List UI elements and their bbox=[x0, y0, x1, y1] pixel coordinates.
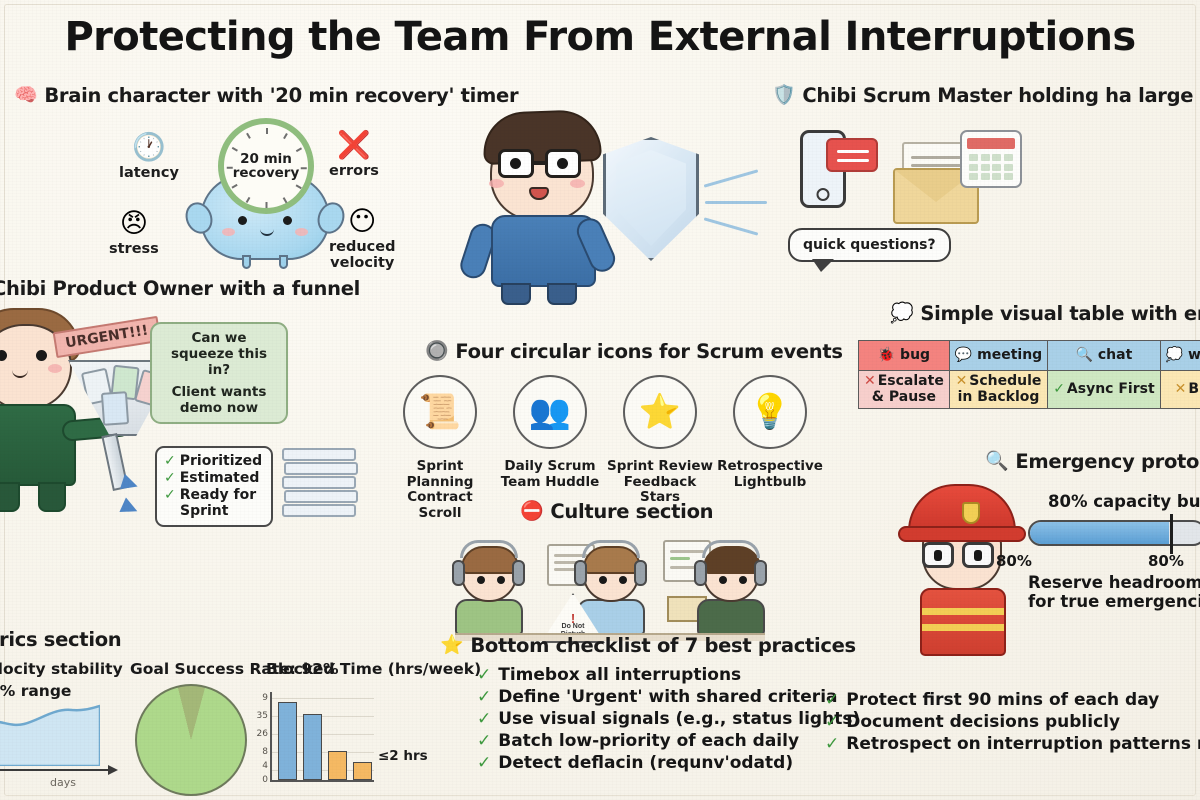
impact-line-2 bbox=[705, 201, 767, 204]
check-icon: ✓ bbox=[825, 733, 839, 755]
stress-label: stress bbox=[109, 241, 159, 257]
bar-left-value: 80% bbox=[996, 552, 1032, 570]
event-label-daily-scrum: Daily ScrumTeam Huddle bbox=[495, 459, 605, 490]
bar-w4 bbox=[353, 762, 372, 780]
people-icon: 👥 bbox=[529, 395, 571, 429]
table-cell-chat-action: ✓Async First bbox=[1048, 371, 1160, 409]
firefighter-eye-left bbox=[934, 550, 942, 561]
scrum-master-section-header: 🛡️ Chibi Scrum Master holding ha large s… bbox=[772, 84, 1200, 107]
goal-success-pie bbox=[135, 684, 247, 796]
checklist-item: ✓Detect deflacin (requnv'odatd) bbox=[477, 752, 860, 774]
member1-earcup-right bbox=[512, 560, 525, 586]
team-member-3 bbox=[703, 548, 759, 635]
metric-errors: ❌ errors bbox=[329, 132, 379, 179]
member1-body bbox=[455, 599, 523, 635]
cross-icon-bug: ✕ bbox=[864, 373, 876, 389]
helmet-badge bbox=[962, 502, 980, 524]
bar-w1 bbox=[278, 702, 297, 780]
infographic-canvas: Protecting the Team From External Interr… bbox=[0, 0, 1200, 800]
checklist-column-right: ✓Protect first 90 mins of each day ✓Docu… bbox=[825, 689, 1200, 755]
table-head-workshop: 💭 workshop bbox=[1160, 341, 1200, 371]
blocked-time-bar-chart: 9 35 26 8 4 0 bbox=[270, 692, 374, 782]
metric-stress: 😠 stress bbox=[109, 210, 159, 257]
checklist-column-left: ✓Timebox all interruptions ✓Define 'Urge… bbox=[477, 664, 860, 774]
capacity-progress-bar bbox=[1028, 520, 1200, 546]
brain-eye-left bbox=[238, 216, 247, 225]
reserve-line-1: Reserve headroom bbox=[1028, 574, 1200, 593]
dod-item-ready: ✓Ready for bbox=[164, 487, 264, 504]
team-member-1 bbox=[461, 548, 517, 635]
request-line-4: demo now bbox=[160, 400, 278, 416]
cloud-icon: 💭 bbox=[1166, 347, 1183, 363]
reserve-headroom-text: Reserve headroom for true emergencies bbox=[1028, 574, 1200, 612]
member2-earcup-right bbox=[634, 560, 647, 586]
product-owner-heading-text: Chibi Product Owner with a funnel bbox=[0, 277, 360, 300]
event-icon-sprint-planning[interactable]: 📜 bbox=[403, 375, 477, 449]
brain-heading-text: Brain character with '20 min recovery' t… bbox=[44, 84, 518, 107]
scrum-master-heading-text: Chibi Scrum Master holding ha large shie… bbox=[802, 84, 1200, 107]
table-cell-workshop-action: ✕Block 2h bbox=[1160, 371, 1200, 409]
product-owner-eye-right bbox=[36, 350, 47, 361]
impact-line-3 bbox=[704, 217, 759, 235]
member3-headphones bbox=[702, 540, 760, 558]
velocity-x-label: days bbox=[50, 776, 76, 789]
brain-eye-right bbox=[283, 216, 292, 225]
magnifier-icon: 🔍 bbox=[1076, 347, 1093, 363]
product-owner-leg-right bbox=[38, 482, 66, 512]
speech-balloon-icon: 💬 bbox=[955, 347, 972, 363]
focus-culture-illustration: ! Do NotDisturb bbox=[455, 530, 765, 635]
event-label-sprint-planning: Sprint PlanningContract Scroll bbox=[385, 459, 495, 521]
brain-mouth bbox=[260, 228, 274, 236]
checklist-item: ✓Use visual signals (e.g., status lights… bbox=[477, 708, 860, 730]
member2-earcup-left bbox=[574, 560, 587, 586]
emergency-heading-text: Emergency protocol bbox=[1015, 450, 1200, 473]
lightbulb-icon: 💡 bbox=[749, 395, 791, 429]
impact-line-1 bbox=[704, 169, 759, 187]
neutral-face-icon: 😶 bbox=[348, 208, 376, 235]
shield-icon: 🛡️ bbox=[772, 86, 795, 105]
table-action-row: ✕Escalate & Pause ✕Schedule in Backlog ✓… bbox=[859, 371, 1200, 409]
bar-w3 bbox=[328, 751, 347, 780]
helmet-brim bbox=[898, 526, 1026, 542]
scrum-master-cheek-left bbox=[489, 179, 504, 188]
table-head-meeting: 💬 meeting bbox=[949, 341, 1047, 371]
brain-cheek-left bbox=[222, 228, 235, 236]
velocity-area-chart bbox=[0, 694, 100, 766]
member2-eye-right bbox=[619, 576, 627, 584]
events-section-header: 🔘 Four circular icons for Scrum events bbox=[425, 340, 843, 363]
dod-item-prioritized: ✓Prioritized bbox=[164, 453, 264, 470]
event-icon-retrospective[interactable]: 💡 bbox=[733, 375, 807, 449]
velocity-area-svg bbox=[0, 694, 100, 766]
chat-bubble-icon bbox=[826, 138, 878, 172]
capacity-threshold-marker bbox=[1170, 514, 1173, 554]
stakeholder-request-bubble: Can we squeeze this in? Client wants dem… bbox=[150, 322, 288, 424]
reduced-velocity-label: reducedvelocity bbox=[329, 239, 396, 271]
metrics-charts-row: Velocity stability ±5% range days Goal S… bbox=[0, 648, 370, 800]
request-line-3: Client wants bbox=[160, 384, 278, 400]
member3-eye-right bbox=[739, 576, 747, 584]
emoji-table-section-header: 💭 Simple visual table with emoji bbox=[890, 302, 1200, 325]
brain-foot-right bbox=[279, 255, 288, 269]
table-cell-meeting-action: ✕Schedule in Backlog bbox=[949, 371, 1047, 409]
errors-label: errors bbox=[329, 163, 379, 179]
distraction-icons-group bbox=[790, 112, 1050, 232]
document-stack bbox=[282, 448, 360, 518]
capacity-progress-fill bbox=[1030, 522, 1169, 544]
y-tick-5: 9 bbox=[262, 693, 268, 703]
thought-bubble-icon: 💭 bbox=[890, 304, 913, 323]
table-head-chat: 🔍 chat bbox=[1048, 341, 1160, 371]
definition-of-ready-box: ✓Prioritized ✓Estimated ✓Ready for Sprin… bbox=[155, 446, 273, 527]
event-label-retrospective: RetrospectiveLightbulb bbox=[715, 459, 825, 490]
dod-item-sprint: Sprint bbox=[164, 503, 264, 520]
member1-earcup-left bbox=[452, 560, 465, 586]
no-entry-icon: ⛔ bbox=[520, 502, 543, 521]
recovery-timer: 20 min recovery bbox=[218, 118, 314, 214]
member1-eye-left bbox=[477, 576, 485, 584]
product-owner-cheek-right bbox=[48, 364, 62, 373]
member1-eye-right bbox=[497, 576, 505, 584]
brain-foot-left bbox=[242, 255, 251, 269]
table-header-row: 🐞 bug 💬 meeting 🔍 chat 💭 workshop bbox=[859, 341, 1200, 371]
timer-line-2: recovery bbox=[233, 166, 300, 180]
bar-w2 bbox=[303, 714, 322, 780]
brain-cheek-right bbox=[295, 228, 308, 236]
check-icon: ✓ bbox=[477, 686, 491, 708]
timer-line-1: 20 min bbox=[240, 152, 292, 166]
product-owner-section-header: Chibi Product Owner with a funnel bbox=[0, 277, 360, 300]
latency-label: latency bbox=[119, 165, 179, 181]
member3-earcup-right bbox=[754, 560, 767, 586]
calendar-icon bbox=[960, 130, 1022, 188]
member3-earcup-left bbox=[694, 560, 707, 586]
scrum-events-row: 📜 Sprint PlanningContract Scroll 👥 Daily… bbox=[385, 375, 815, 495]
brain-section-header: 🧠 Brain character with '20 min recovery'… bbox=[14, 84, 518, 107]
check-icon: ✓ bbox=[477, 708, 491, 730]
metric-latency: 🕐 latency bbox=[119, 134, 179, 181]
magnifying-glass-icon: 🔍 bbox=[985, 452, 1008, 471]
member2-eye-left bbox=[599, 576, 607, 584]
culture-section-header: ⛔ Culture section bbox=[520, 500, 713, 523]
star-icon: ⭐ bbox=[639, 395, 681, 429]
event-icon-daily-scrum[interactable]: 👥 bbox=[513, 375, 587, 449]
event-label-sprint-review: Sprint ReviewFeedback Stars bbox=[605, 459, 715, 506]
clock-icon: 🕐 bbox=[132, 134, 166, 161]
brain-icon: 🧠 bbox=[14, 86, 37, 105]
flow-arrow-1 bbox=[120, 474, 140, 494]
dod-item-estimated: ✓Estimated bbox=[164, 470, 264, 487]
checklist-item: ✓Timebox all interruptions bbox=[477, 664, 860, 686]
cross-icon-workshop: ✕ bbox=[1175, 381, 1187, 397]
scroll-icon: 📜 bbox=[419, 395, 461, 429]
interruption-response-table: 🐞 bug 💬 meeting 🔍 chat 💭 workshop bbox=[858, 340, 1200, 409]
y-tick-3: 26 bbox=[257, 729, 268, 739]
y-tick-2: 8 bbox=[262, 747, 268, 757]
page-title: Protecting the Team From External Interr… bbox=[0, 14, 1200, 60]
table-cell-bug-action: ✕Escalate & Pause bbox=[859, 371, 950, 409]
request-line-1: Can we bbox=[160, 330, 278, 346]
y-tick-0: 0 bbox=[262, 775, 268, 785]
scrum-master-leg-left bbox=[501, 283, 531, 305]
checklist-item: ✓Protect first 90 mins of each day bbox=[825, 689, 1200, 711]
cross-icon-meeting: ✕ bbox=[956, 373, 968, 389]
check-icon: ✓ bbox=[477, 730, 491, 752]
table-head-bug: 🐞 bug bbox=[859, 341, 950, 371]
quick-questions-bubble: quick questions? bbox=[788, 228, 951, 262]
emoji-table-heading-text: Simple visual table with emoji bbox=[920, 302, 1200, 325]
angry-face-icon: 😠 bbox=[120, 210, 148, 237]
checklist-item: ✓Retrospect on interruption patterns mon… bbox=[825, 733, 1200, 755]
bar-threshold-value: 80% bbox=[1148, 552, 1184, 570]
check-icon: ✓ bbox=[825, 689, 839, 711]
member3-body bbox=[697, 599, 765, 635]
member2-headphones bbox=[582, 540, 640, 558]
scrum-master-leg-right bbox=[547, 283, 577, 305]
member3-eye-left bbox=[719, 576, 727, 584]
flow-arrow-2 bbox=[119, 497, 140, 518]
protective-shield bbox=[603, 137, 699, 261]
check-icon: ✓ bbox=[477, 752, 491, 774]
check-icon: ✓ bbox=[477, 664, 491, 686]
scrum-master-illustration bbox=[455, 105, 815, 305]
product-owner-suit bbox=[0, 404, 76, 486]
capacity-buffer-label: 80% capacity buffer bbox=[1048, 492, 1200, 511]
checklist-item: ✓Batch low-priority of each daily bbox=[477, 730, 860, 752]
check-icon-chat: ✓ bbox=[1053, 381, 1065, 397]
emergency-protocol-illustration: 80% capacity buffer 80% 80% Reserve head… bbox=[900, 478, 1200, 638]
firefighter-eye-right bbox=[974, 550, 982, 561]
member1-headphones bbox=[460, 540, 518, 558]
checklist-item: ✓Document decisions publicly bbox=[825, 711, 1200, 733]
emergency-section-header: 🔍 Emergency protocol bbox=[985, 450, 1200, 473]
check-icon: ✓ bbox=[825, 711, 839, 733]
product-owner-leg-left bbox=[0, 482, 20, 512]
culture-heading-text: Culture section bbox=[550, 500, 713, 523]
y-tick-4: 35 bbox=[257, 711, 268, 721]
checklist-item: ✓Define 'Urgent' with shared criteria bbox=[477, 686, 860, 708]
scrum-master-eye-left bbox=[510, 158, 521, 169]
event-icon-sprint-review[interactable]: ⭐ bbox=[623, 375, 697, 449]
glasses-bridge bbox=[534, 161, 545, 165]
scrum-master-cheek-right bbox=[570, 179, 585, 188]
request-line-2: squeeze this in? bbox=[160, 346, 278, 378]
best-practices-checklist: ✓Timebox all interruptions ✓Define 'Urge… bbox=[415, 632, 1200, 800]
bug-icon: 🐞 bbox=[878, 347, 895, 363]
toggle-icon: 🔘 bbox=[425, 342, 448, 361]
y-tick-1: 4 bbox=[262, 761, 268, 771]
cross-mark-icon: ❌ bbox=[337, 132, 371, 159]
scrum-master-eye-right bbox=[557, 158, 568, 169]
events-heading-text: Four circular icons for Scrum events bbox=[455, 340, 842, 363]
metric-reduced-velocity: 😶 reducedvelocity bbox=[329, 208, 396, 271]
product-owner-illustration: URGENT!!! Can we squeeze this in? Client… bbox=[0, 300, 350, 535]
reserve-line-2: for true emergencies bbox=[1028, 593, 1200, 612]
brain-illustration: 20 min recovery 🕐 latency ❌ errors 😠 str… bbox=[95, 112, 425, 272]
velocity-chart-title: Velocity stability bbox=[0, 660, 123, 678]
